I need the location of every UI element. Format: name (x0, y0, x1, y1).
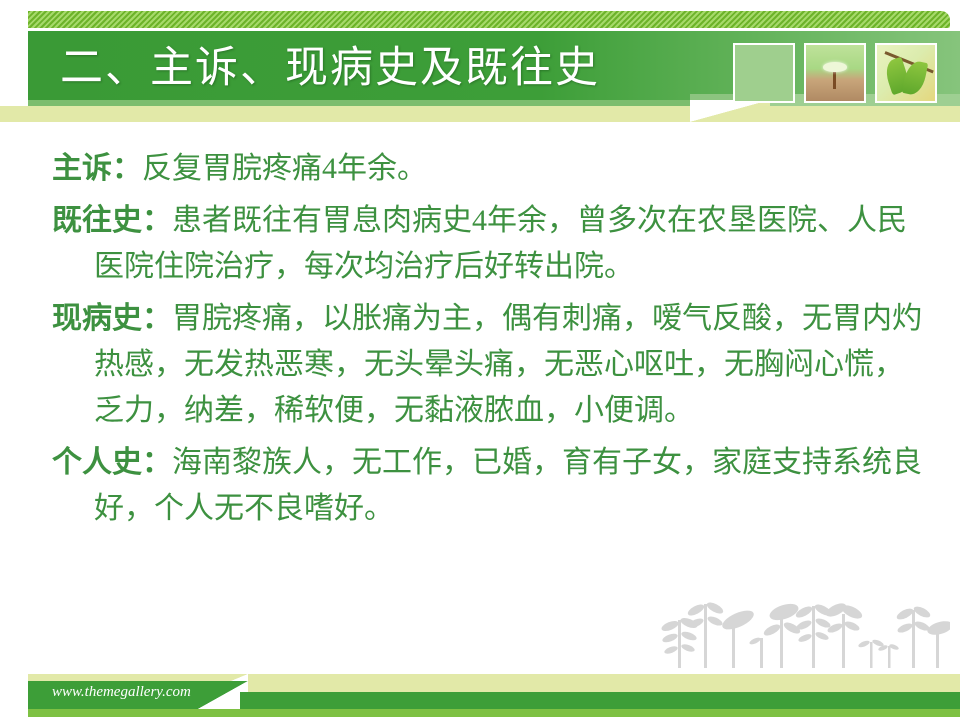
paragraph-personal-history: 个人史：海南黎族人，无工作，已婚，育有子女，家庭支持系统良好，个人无不良嗜好。 (52, 440, 922, 532)
leaf-shape-right (902, 59, 929, 96)
label-present-illness: 现病史： (52, 302, 172, 335)
text-past-history: 患者既往有胃息肉病史4年余，曾多次在农垦医院、人民医院住院治疗，每次均治疗后好转… (94, 204, 907, 283)
paragraph-past-history: 既往史：患者既往有胃息肉病史4年余，曾多次在农垦医院、人民医院住院治疗，每次均治… (52, 198, 922, 290)
thumbnail-sprout-in-soil-photo (804, 43, 866, 103)
footer-website-url[interactable]: www.themegallery.com (52, 684, 191, 701)
paragraph-present-illness: 现病史：胃脘疼痛，以胀痛为主，偶有刺痛，嗳气反酸，无胃内灼热感，无发热恶寒，无头… (52, 296, 922, 434)
slide-header: 二、主诉、现病史及既往史 (0, 0, 960, 128)
header-pale-shelf-right (760, 112, 960, 122)
footer-green-bar-right (240, 692, 960, 709)
thumbnail-blank-green-swatch (733, 43, 795, 103)
striped-top-band (28, 11, 950, 28)
text-personal-history: 海南黎族人，无工作，已婚，育有子女，家庭支持系统良好，个人无不良嗜好。 (94, 446, 922, 525)
paragraph-chief-complaint: 主诉：反复胃脘疼痛4年余。 (52, 146, 922, 192)
thumbnail-green-leaves-photo (875, 43, 937, 103)
label-personal-history: 个人史： (52, 446, 172, 479)
slide-root: 二、主诉、现病史及既往史 主诉：反复胃脘疼痛4年余。 既往史：患者既往有胃息肉病… (0, 0, 960, 720)
label-past-history: 既往史： (52, 204, 172, 237)
label-chief-complaint: 主诉： (52, 152, 142, 185)
header-thumbnail-strip (733, 43, 951, 103)
plant-silhouettes-decoration (660, 596, 950, 668)
text-present-illness: 胃脘疼痛，以胀痛为主，偶有刺痛，嗳气反酸，无胃内灼热感，无发热恶寒，无头晕头痛，… (94, 302, 922, 427)
slide-footer: www.themegallery.com (0, 670, 960, 720)
text-chief-complaint: 反复胃脘疼痛4年余。 (142, 152, 427, 185)
page-title: 二、主诉、现病史及既往史 (60, 34, 720, 104)
footer-bottom-light-strip (28, 709, 960, 717)
slide-body: 主诉：反复胃脘疼痛4年余。 既往史：患者既往有胃息肉病史4年余，曾多次在农垦医院… (52, 146, 922, 538)
